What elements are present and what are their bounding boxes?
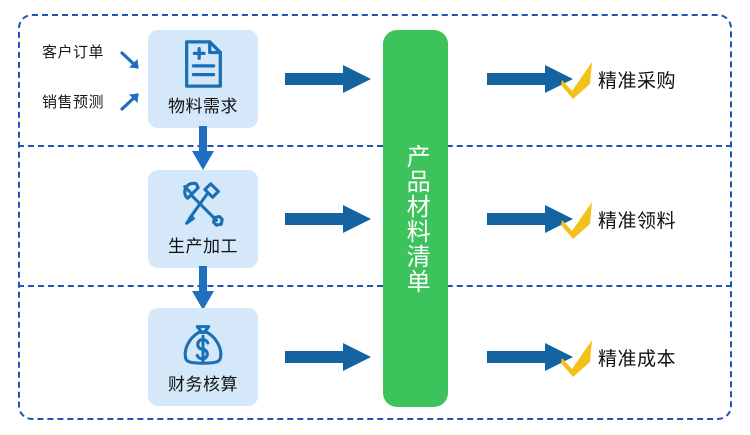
outcome-label-accurate-cost: 精准成本 xyxy=(598,344,676,371)
document-plus-icon xyxy=(178,38,228,90)
arrow-down-icon xyxy=(192,266,214,310)
process-label-material-requirement: 物料需求 xyxy=(168,92,238,117)
row-divider-1 xyxy=(18,145,732,147)
arrow-down-right-icon xyxy=(118,48,144,74)
outcome-accurate-procurement: 精准采购 xyxy=(560,58,676,100)
arrow-right-icon xyxy=(285,204,371,234)
money-bag-icon xyxy=(178,316,228,368)
arrow-right-icon xyxy=(285,64,371,94)
outcome-accurate-picking: 精准领料 xyxy=(560,198,676,240)
arrow-down-icon xyxy=(192,126,214,170)
bom-central-block[interactable]: 产品材料清单 xyxy=(383,30,448,407)
check-mark-icon xyxy=(560,58,594,100)
row-divider-2 xyxy=(18,285,732,287)
process-box-production[interactable]: 生产加工 xyxy=(148,170,258,268)
process-label-production: 生产加工 xyxy=(168,232,238,257)
arrow-right-icon xyxy=(285,342,371,372)
outcome-accurate-cost: 精准成本 xyxy=(560,336,676,378)
bom-block-label: 产品材料清单 xyxy=(395,144,436,294)
input-label-customer-order: 客户订单 xyxy=(42,41,104,62)
process-box-finance[interactable]: 财务核算 xyxy=(148,308,258,406)
process-label-finance: 财务核算 xyxy=(168,370,238,395)
check-mark-icon xyxy=(560,336,594,378)
diagram-canvas: 客户订单 销售预测 物料需求 xyxy=(0,0,750,435)
arrow-up-right-icon xyxy=(118,88,144,114)
check-mark-icon xyxy=(560,198,594,240)
process-box-material-requirement[interactable]: 物料需求 xyxy=(148,30,258,128)
outcome-label-accurate-procurement: 精准采购 xyxy=(598,66,676,93)
input-label-sales-forecast: 销售预测 xyxy=(42,91,104,112)
hammer-wrench-icon xyxy=(178,178,228,230)
outcome-label-accurate-picking: 精准领料 xyxy=(598,206,676,233)
